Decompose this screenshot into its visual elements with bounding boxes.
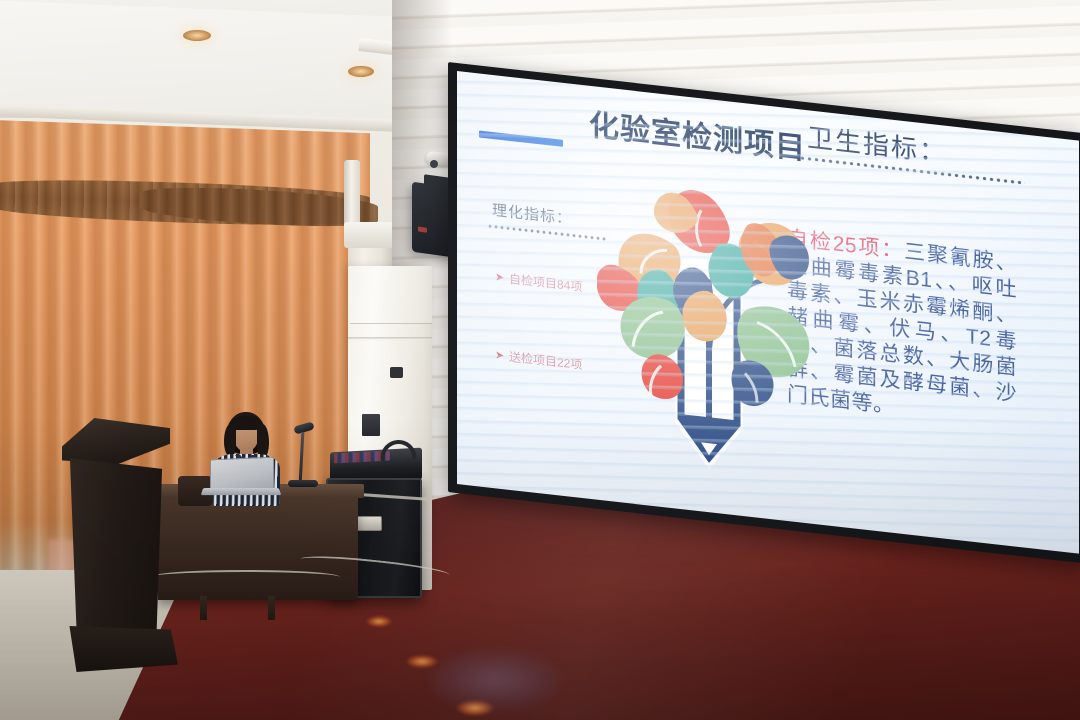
desk-leg <box>268 596 275 620</box>
left-section-heading: 理化指标： <box>492 199 572 229</box>
camera-lens-icon <box>430 160 438 168</box>
pencil-tree-illustration <box>597 147 827 503</box>
arrow-bullet-icon: ➤ <box>495 348 504 365</box>
list-item-label: 送检项目22项 <box>509 350 582 372</box>
arrow-bullet-icon: ➤ <box>495 270 504 287</box>
list-item-label: 自检项目84项 <box>509 272 582 294</box>
ceiling-downlight <box>183 30 211 41</box>
screen-surface: 化验室检测项目 卫生指标： 理化指标： ➤ 自检项目84项 ➤ 送检项目22项 … <box>457 71 1079 554</box>
presenter-hair-right <box>257 424 269 458</box>
podium <box>62 418 170 670</box>
wall-column-cap <box>344 222 396 248</box>
air-conditioner-seam <box>348 337 432 340</box>
laptop-keyboard[interactable] <box>201 488 281 495</box>
floor-cable <box>150 570 340 584</box>
desk-leg <box>200 596 207 620</box>
podium-base <box>60 626 178 672</box>
air-conditioner-display[interactable] <box>390 367 403 378</box>
presentation-slide: 化验室检测项目 卫生指标： 理化指标： ➤ 自检项目84项 ➤ 送检项目22项 … <box>457 71 1079 554</box>
podium-top <box>62 418 170 464</box>
speaker-indicator-icon <box>418 226 427 232</box>
conference-room-scene: 化验室检测项目 卫生指标： 理化指标： ➤ 自检项目84项 ➤ 送检项目22项 … <box>0 0 1080 720</box>
slide-accent-bar <box>479 130 563 146</box>
ceiling-downlight <box>348 66 374 77</box>
left-heading-underline <box>487 224 607 240</box>
light-reflection <box>366 616 392 627</box>
air-conditioner-top <box>350 266 432 324</box>
projection-screen[interactable]: 化验室检测项目 卫生指标： 理化指标： ➤ 自检项目84项 ➤ 送检项目22项 … <box>448 62 1080 564</box>
podium-body <box>68 458 164 640</box>
presenter-hair-left <box>224 424 236 456</box>
projector-glow-reflection <box>430 650 560 710</box>
air-conditioner-label <box>362 414 380 436</box>
light-reflection <box>406 655 438 668</box>
microphone-base <box>288 480 318 487</box>
